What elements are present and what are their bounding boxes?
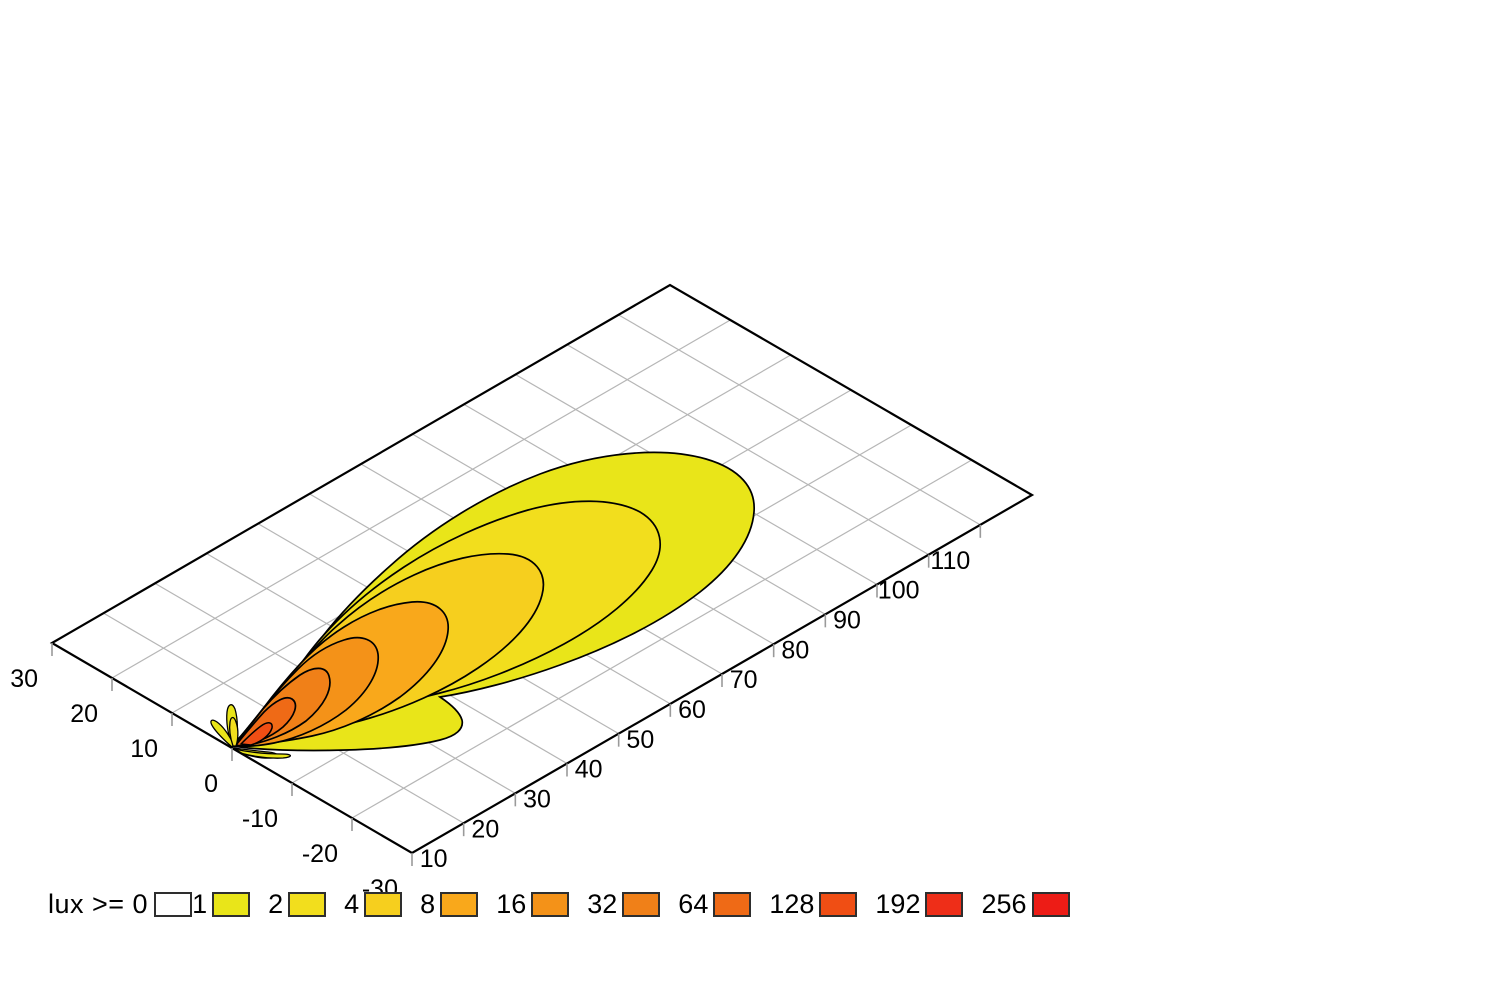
legend-swatch-16 [531,892,569,917]
legend-item: 16 [496,889,569,920]
legend: lux >= 0 1248163264128192256 [48,884,1070,924]
legend-item: 256 [981,889,1069,920]
legend-value: 16 [496,889,526,920]
svg-text:50: 50 [626,726,654,754]
svg-text:80: 80 [781,636,809,664]
svg-text:-20: -20 [302,840,338,868]
svg-text:30: 30 [10,665,38,693]
svg-text:30: 30 [523,786,551,814]
svg-text:90: 90 [833,607,861,635]
svg-text:0: 0 [204,770,218,798]
legend-swatch-2 [288,892,326,917]
legend-value: 128 [769,889,814,920]
legend-swatch-32 [622,892,660,917]
legend-item: 2 [268,889,326,920]
legend-swatch-128 [819,892,857,917]
legend-swatch-192 [925,892,963,917]
legend-item: 4 [344,889,402,920]
legend-swatch-8 [440,892,478,917]
svg-text:20: 20 [70,700,98,728]
svg-text:110: 110 [930,547,970,575]
legend-swatch-1 [212,892,250,917]
isolux-contour-chart: 3020100-10-20-30 10203040506070809010011… [0,0,1500,1000]
legend-value: 8 [420,889,435,920]
legend-swatch-0 [154,892,192,917]
legend-swatch-256 [1032,892,1070,917]
legend-item: 128 [769,889,857,920]
legend-item: 32 [587,889,660,920]
svg-text:70: 70 [730,666,758,694]
legend-item: 64 [678,889,751,920]
legend-value: 256 [981,889,1026,920]
svg-text:100: 100 [878,577,920,605]
svg-text:10: 10 [420,845,448,873]
legend-value: 1 [192,889,207,920]
svg-text:40: 40 [575,756,603,784]
legend-swatch-4 [364,892,402,917]
legend-item: 8 [420,889,478,920]
plot-canvas: 3020100-10-20-30 10203040506070809010011… [0,0,1500,1000]
svg-text:10: 10 [130,735,158,763]
legend-item: 1 [192,889,250,920]
legend-value: 4 [344,889,359,920]
legend-value: 32 [587,889,617,920]
legend-value: 192 [875,889,920,920]
svg-text:60: 60 [678,696,706,724]
legend-title: lux >= 0 [48,889,148,920]
legend-swatch-64 [713,892,751,917]
legend-value: 64 [678,889,708,920]
svg-text:-10: -10 [242,805,278,833]
legend-item: 192 [875,889,963,920]
legend-value: 2 [268,889,283,920]
svg-text:20: 20 [471,815,499,843]
